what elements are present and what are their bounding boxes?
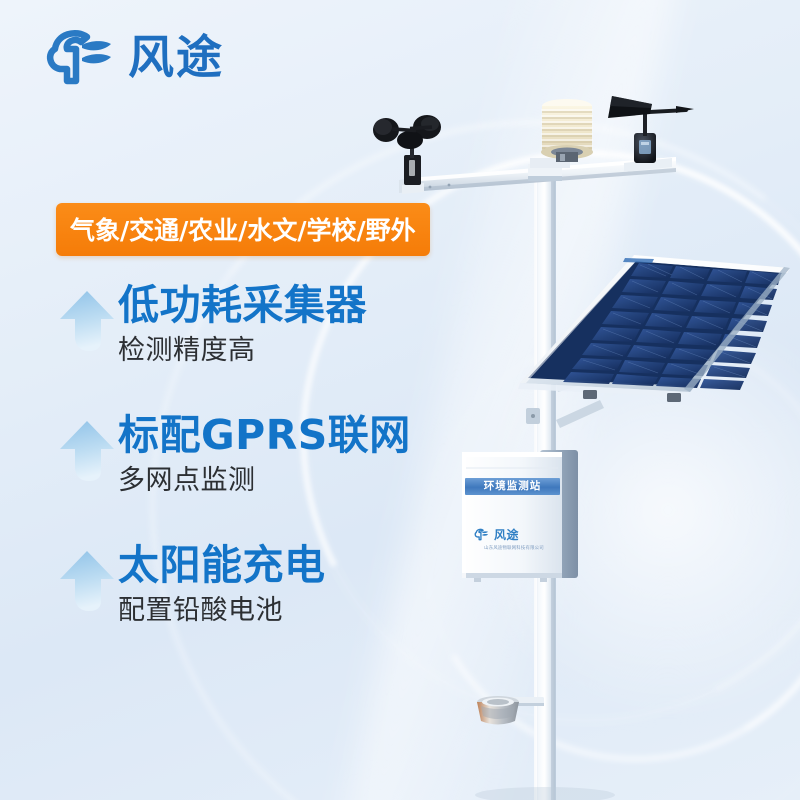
control-box-logo: 风途: [474, 528, 552, 541]
control-box-company-line: 山东风途物联网科技有限公司: [472, 547, 556, 551]
feature-item: 太阳能充电 配置铅酸电池: [56, 543, 416, 673]
rain-gauge-sensor: [477, 696, 544, 725]
wind-cloud-logo-icon: [474, 528, 491, 541]
feature-item: 标配GPRS联网 多网点监测: [56, 413, 416, 543]
up-arrow-icon: [58, 419, 116, 485]
brand-logo-text: 风途: [128, 34, 224, 80]
control-box: [462, 450, 578, 582]
feature-subtitle: 配置铅酸电池: [118, 595, 283, 626]
solar-panel: [518, 255, 790, 428]
feature-title: 太阳能充电: [118, 543, 326, 587]
mast-clamp: [526, 408, 540, 424]
wind-vane: [608, 96, 694, 172]
feature-subtitle: 检测精度高: [118, 335, 256, 366]
feature-title: 低功耗采集器: [118, 283, 367, 327]
control-box-band-label: 环境监测站: [484, 481, 542, 492]
brand-logo: 风途: [46, 28, 224, 86]
feature-item: 低功耗采集器 检测精度高: [56, 283, 416, 413]
wind-cloud-logo-icon: [46, 28, 120, 86]
poster-canvas: 环境监测站 风途 山东风途物联网科技有限公司 风途 气象/交通/农业/水文/学校…: [0, 0, 800, 800]
control-box-logo-text: 风途: [494, 529, 519, 541]
category-tag: 气象/交通/农业/水文/学校/野外: [56, 203, 430, 256]
feature-subtitle: 多网点监测: [118, 465, 256, 496]
feature-list: 低功耗采集器 检测精度高 标配GPRS联网 多网点监测: [56, 283, 416, 673]
radiation-shield: [530, 99, 593, 168]
feature-title: 标配GPRS联网: [118, 413, 411, 457]
up-arrow-icon: [58, 549, 116, 615]
up-arrow-icon: [58, 289, 116, 355]
control-box-band: 环境监测站: [465, 478, 560, 495]
